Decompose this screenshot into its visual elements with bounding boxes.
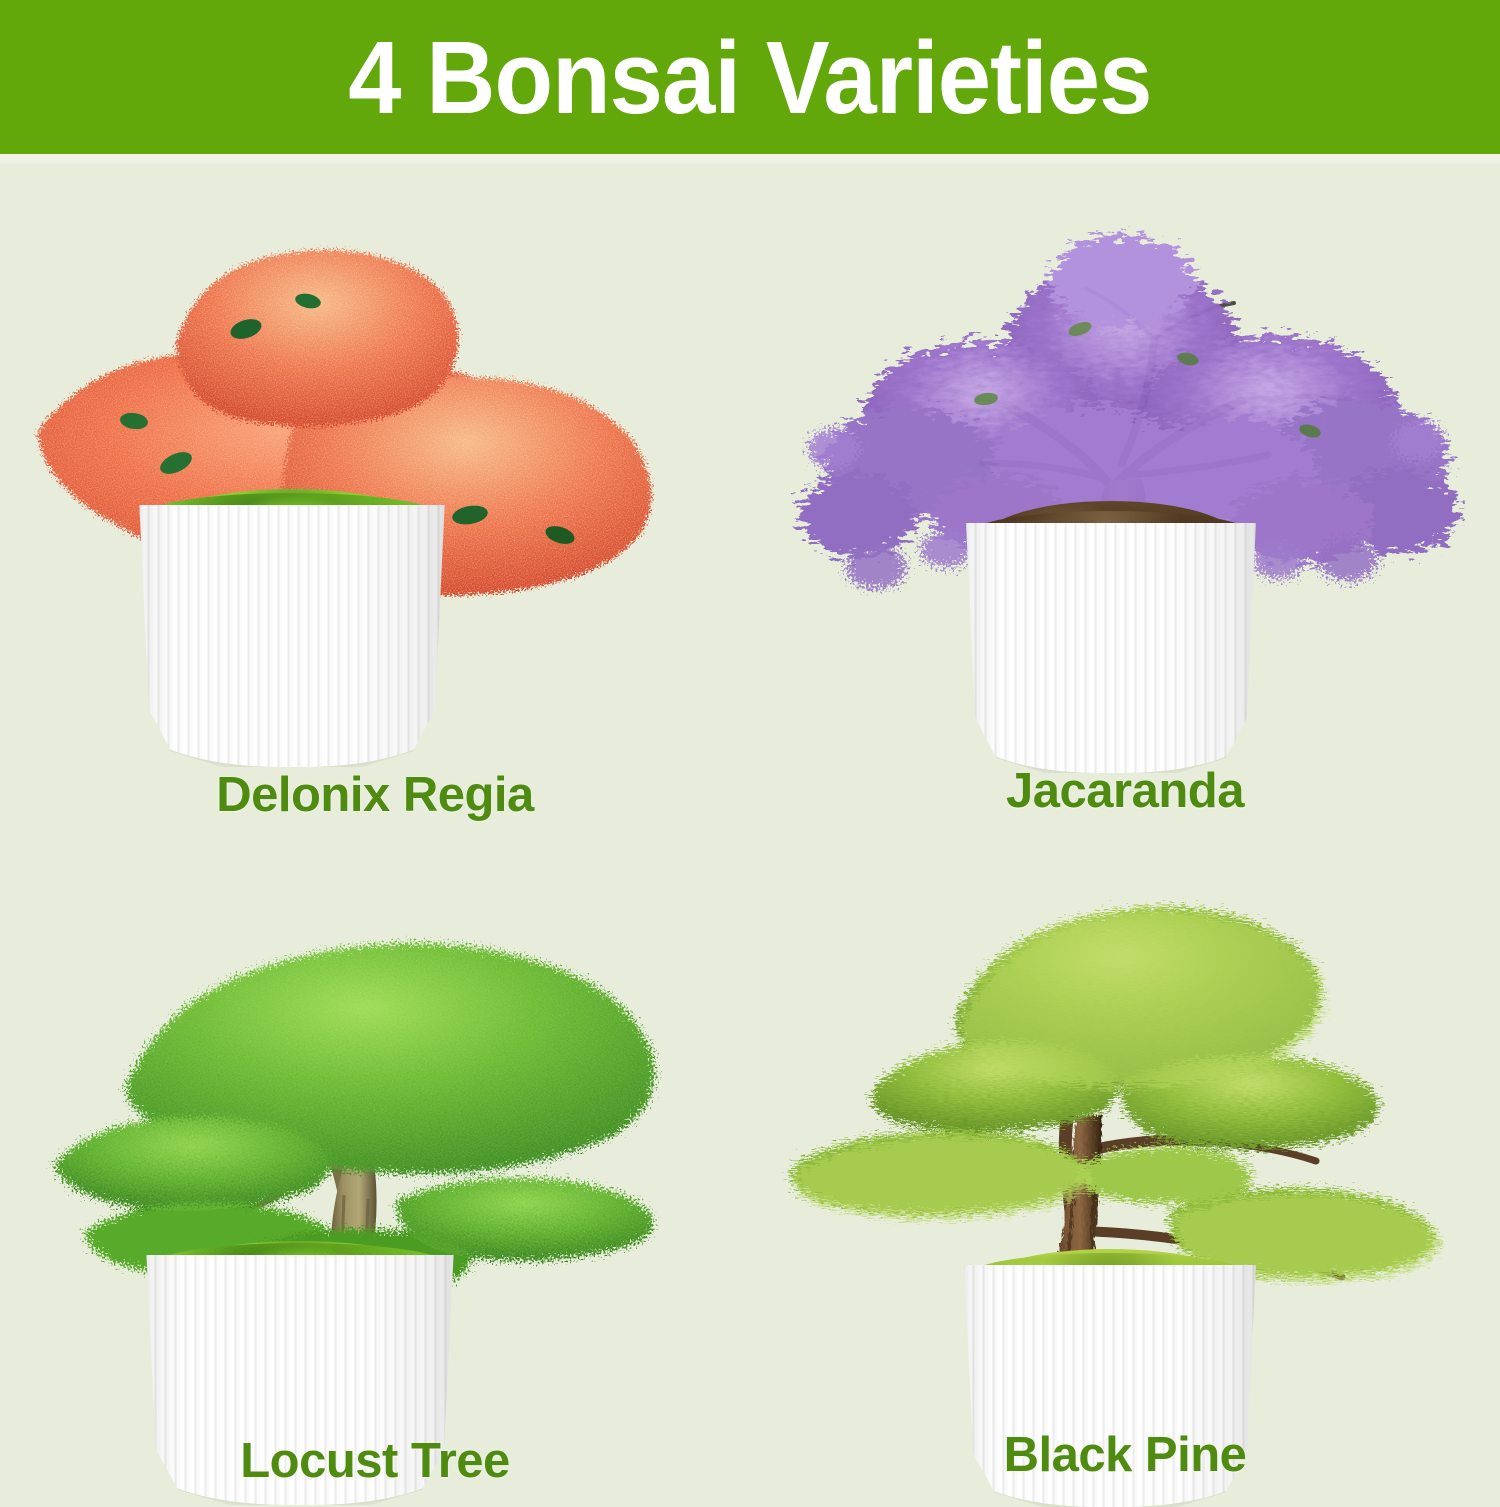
page-title: 4 Bonsai Varieties [348,26,1151,129]
variety-label-jacaranda: Jacaranda [750,763,1500,819]
variety-grid: Delonix Regia [0,163,1500,1500]
header-banner: 4 Bonsai Varieties [0,0,1500,154]
variety-label-locust-tree: Locust Tree [0,1433,750,1489]
delonix-pot [133,505,451,767]
jacaranda-pot [960,523,1262,773]
jacaranda-pot-body [960,523,1262,773]
variety-label-delonix-regia: Delonix Regia [0,767,750,823]
delonix-pot-body [133,505,451,767]
header-divider [0,154,1500,163]
variety-card-locust-tree[interactable]: Locust Tree [0,835,750,1500]
variety-card-black-pine[interactable]: Black Pine [750,835,1500,1500]
variety-card-delonix-regia[interactable]: Delonix Regia [0,163,750,835]
variety-card-jacaranda[interactable]: Jacaranda [750,163,1500,835]
delonix-upper-crown-texture [176,250,458,426]
variety-label-black-pine: Black Pine [750,1427,1500,1483]
